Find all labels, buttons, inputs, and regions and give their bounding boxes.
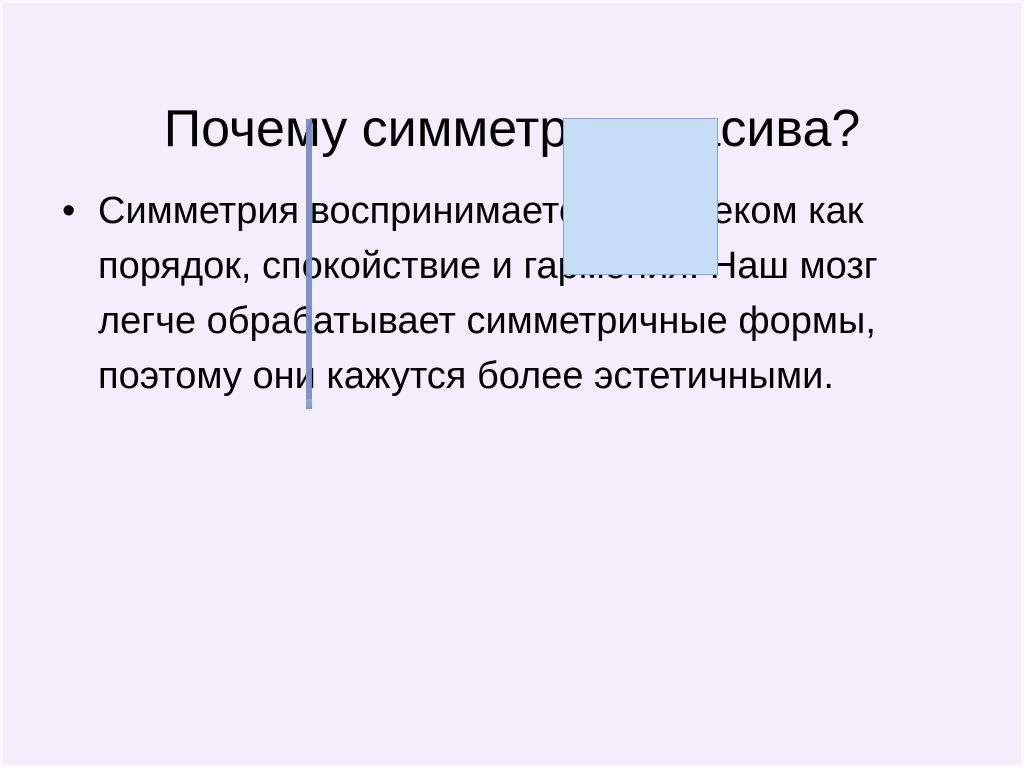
presentation-slide: Почему симметрия красива? • Симметрия во… [0, 0, 1024, 767]
vertical-blue-line-fade [306, 399, 312, 411]
body-content: • Симметрия воспринимается человеком как… [56, 184, 946, 404]
bullet-icon: • [56, 184, 98, 239]
vertical-blue-line [306, 119, 312, 409]
page-title: Почему симметрия красива? [0, 99, 1024, 159]
body-paragraph: Симметрия воспринимается человеком как п… [98, 184, 946, 404]
light-blue-square [563, 118, 718, 275]
list-item: • Симметрия воспринимается человеком как… [56, 184, 946, 404]
